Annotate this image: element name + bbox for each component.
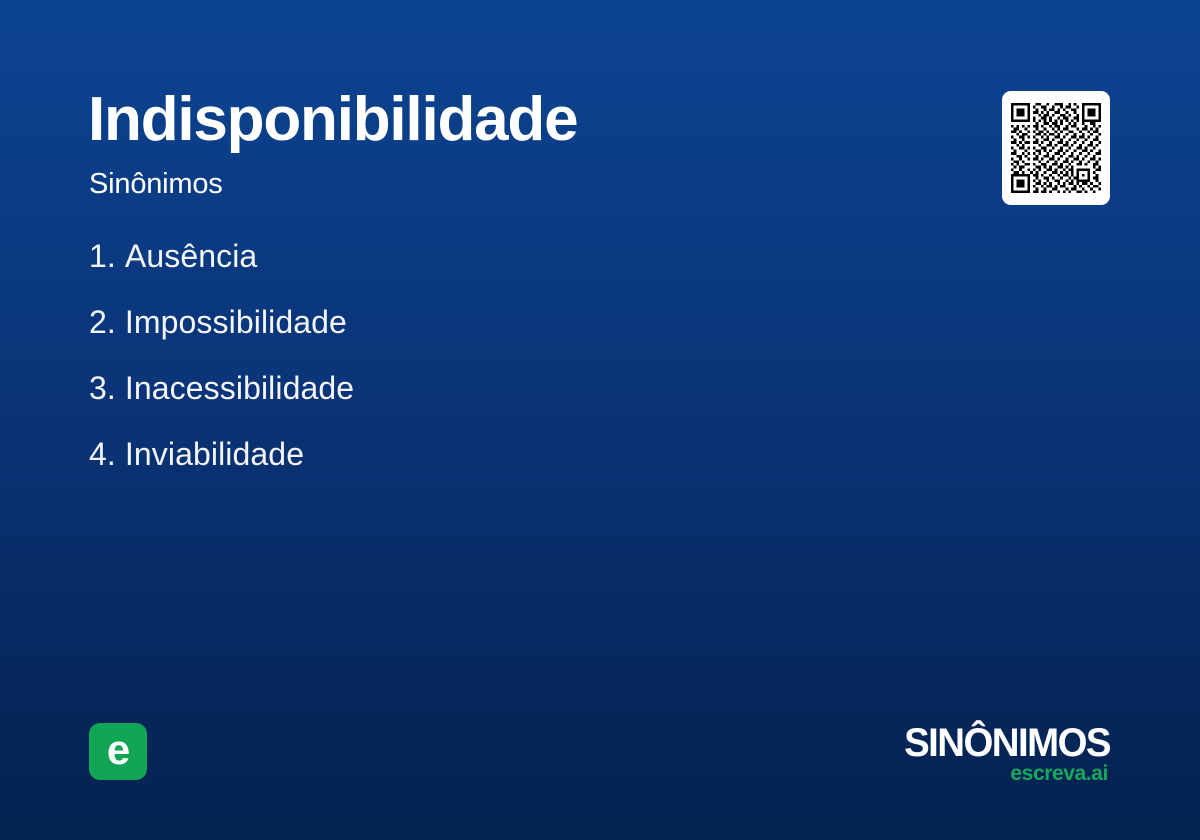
list-item-index: 2.: [89, 300, 116, 344]
list-item-word: Inacessibilidade: [125, 366, 354, 410]
list-item-word: Inviabilidade: [125, 432, 304, 476]
synonyms-list: 1.Ausência 2.Impossibilidade 3.Inacessib…: [89, 234, 909, 498]
list-item-word: Impossibilidade: [125, 300, 347, 344]
list-item: 1.Ausência: [89, 234, 909, 278]
list-item-index: 1.: [89, 234, 116, 278]
list-item-word: Ausência: [125, 234, 257, 278]
list-item-index: 4.: [89, 432, 116, 476]
brand-wordmark: SINÔNIMOS escreva.ai: [880, 722, 1110, 784]
page-subtitle: Sinônimos: [89, 166, 223, 202]
list-item: 2.Impossibilidade: [89, 300, 909, 344]
brand-badge-letter: e: [107, 729, 129, 771]
synonym-card: Indisponibilidade Sinônimos 1.Ausência 2…: [0, 0, 1200, 840]
qr-code-card[interactable]: [1002, 91, 1110, 205]
list-item: 3.Inacessibilidade: [89, 366, 909, 410]
escreva-logo-icon[interactable]: e: [89, 723, 147, 780]
list-item: 4.Inviabilidade: [89, 432, 909, 476]
qr-code-icon: [1011, 103, 1101, 193]
page-title: Indisponibilidade: [88, 84, 577, 156]
list-item-index: 3.: [89, 366, 116, 410]
wordmark-subtitle: escreva.ai: [880, 762, 1110, 786]
wordmark-title: SINÔNIMOS: [889, 722, 1110, 764]
